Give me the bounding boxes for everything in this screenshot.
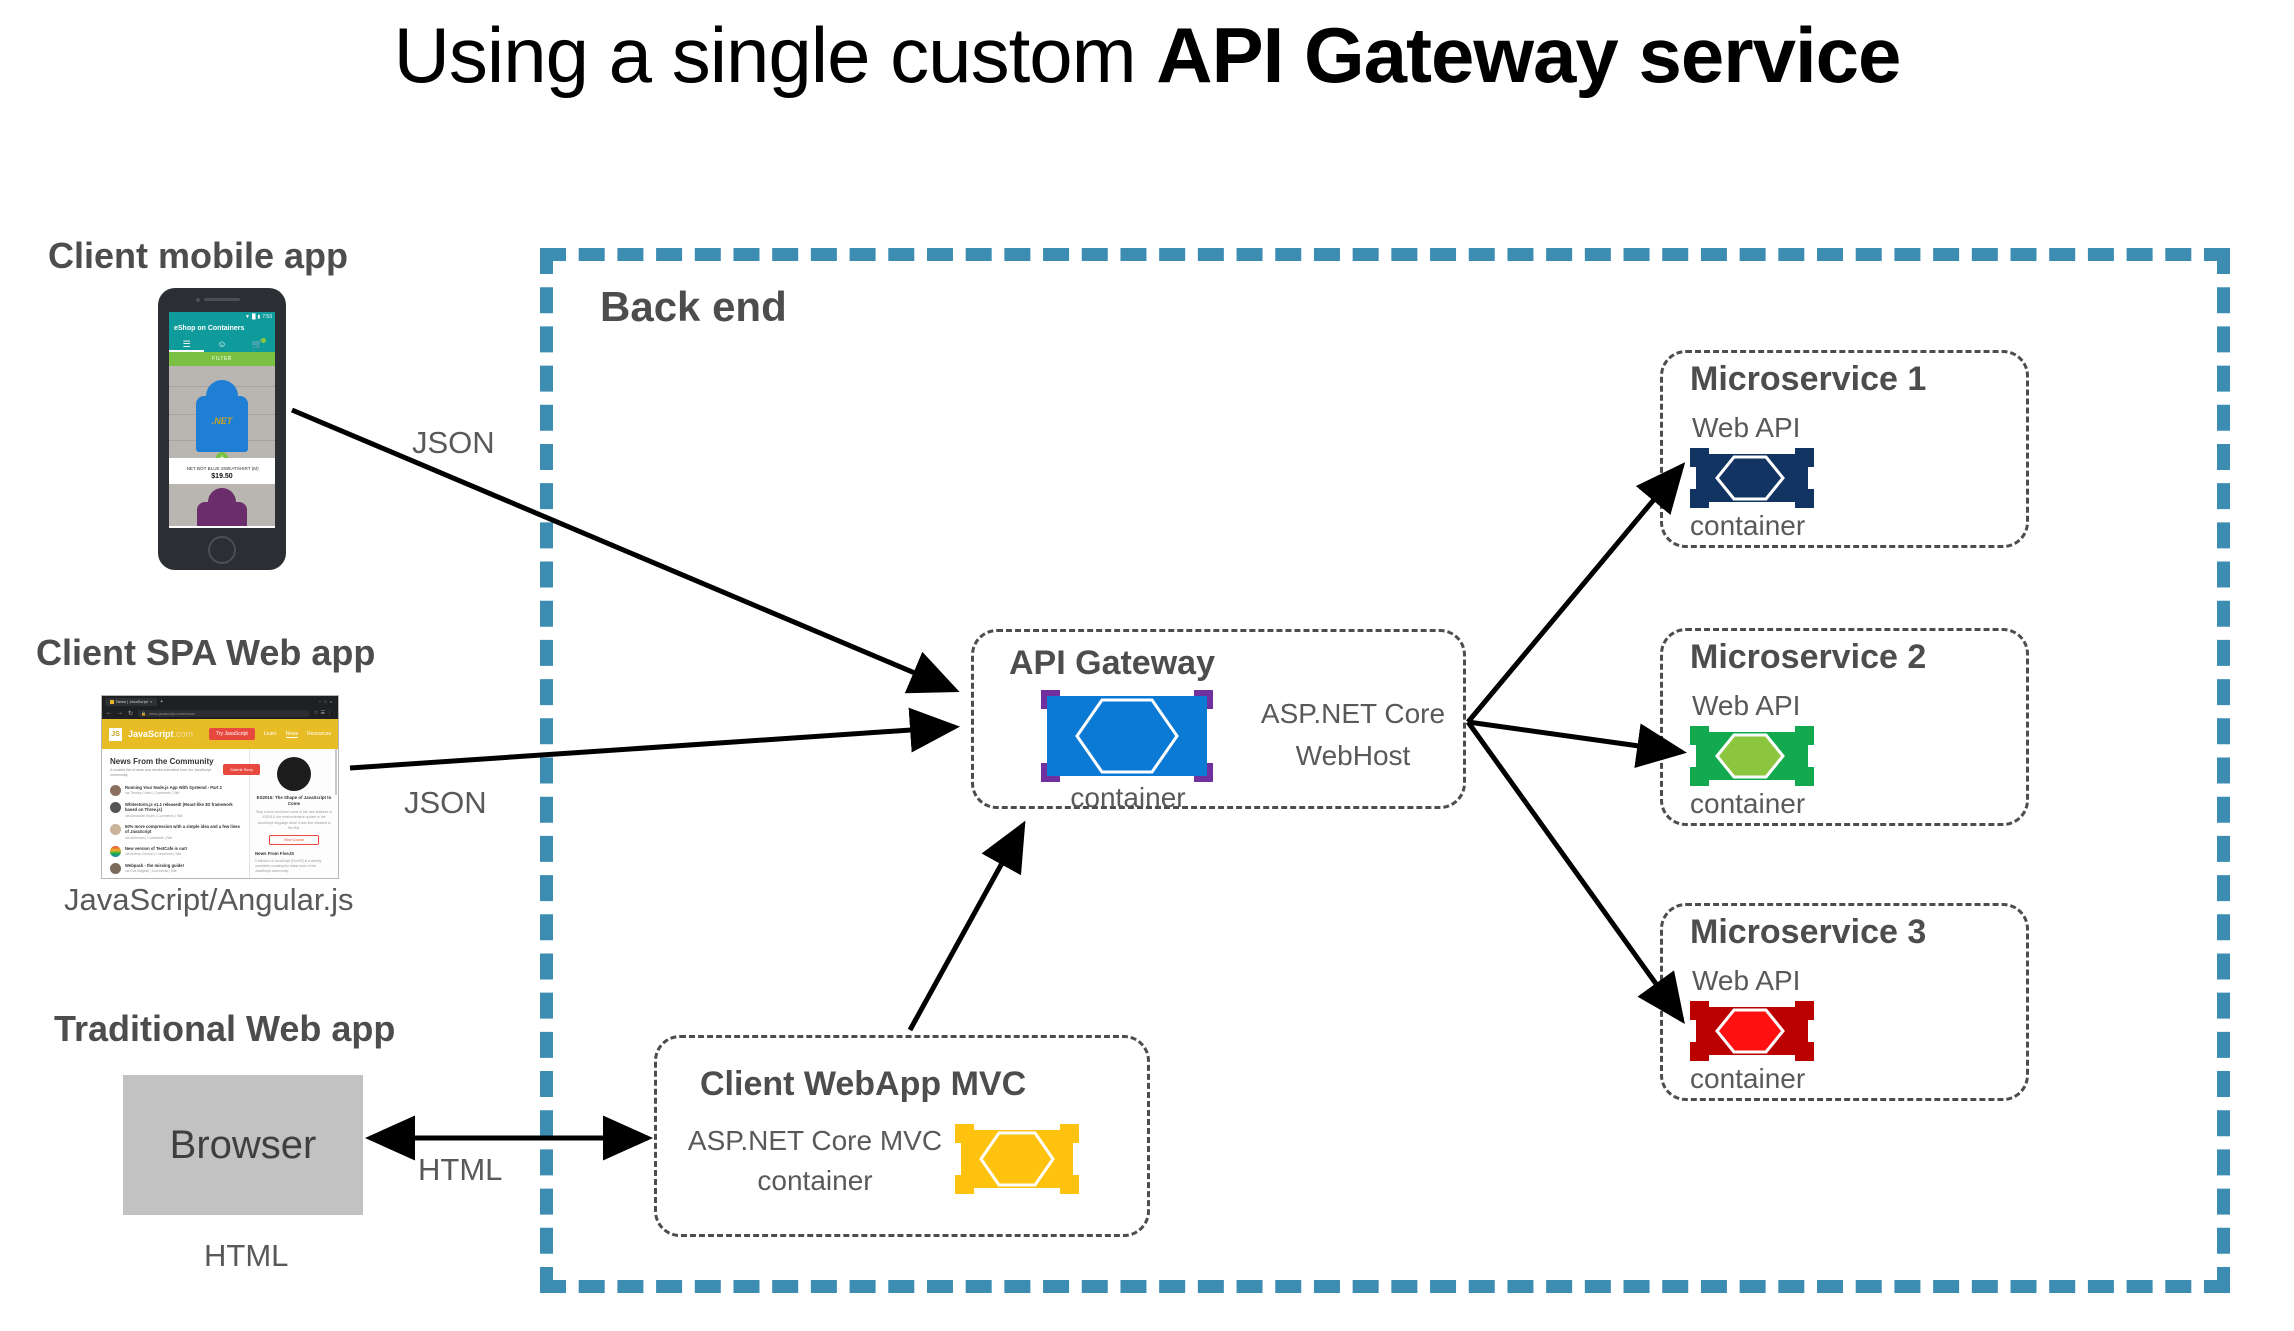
- sidebar-text: Stay in tune and learn some of the new f…: [255, 810, 333, 830]
- article-meta: via Gus Magrab | Comments | Site: [125, 869, 184, 873]
- microservice-1-container-label: container: [1690, 510, 1805, 542]
- hoodie-text: .NET: [192, 416, 252, 426]
- phone-screen: ▼ █ ▮ 7:53 eShop on Containers ☰ ☺ 🛒 FIL…: [169, 312, 275, 528]
- nav-link-resources[interactable]: Resources: [307, 731, 331, 737]
- course-badge-icon: [277, 757, 311, 791]
- list-item[interactable]: Whitestorm.js v1.1 released! (React-like…: [110, 802, 241, 818]
- person-icon[interactable]: ☺: [204, 336, 239, 352]
- cart-badge: [261, 338, 266, 343]
- avatar: [110, 802, 121, 813]
- client-webapp-mvc-title: Client WebApp MVC: [700, 1065, 1026, 1104]
- edge-label-browser-html: HTML: [418, 1152, 502, 1188]
- view-course-button[interactable]: View Course: [269, 835, 319, 845]
- nav-link-learn[interactable]: Learn: [264, 731, 277, 737]
- address-bar-value: www.javascript.com/news: [149, 711, 195, 716]
- microservice-2-subtitle: Web API: [1692, 690, 1800, 722]
- phone-speaker: [204, 298, 240, 301]
- sidebar-title: ES2015: The Shape of JavaScript to Come: [255, 795, 333, 807]
- client-traditional-heading: Traditional Web app: [54, 1008, 395, 1050]
- microservice-3-container-label: container: [1690, 1063, 1805, 1095]
- status-time: 7:53: [262, 314, 272, 320]
- list-item[interactable]: Webpack - the missing guide! via Gus Mag…: [110, 863, 241, 874]
- browser-tab[interactable]: News | JavaScript ×: [105, 698, 157, 706]
- hoodie-graphic: .NET: [192, 380, 252, 454]
- container-icon: [1690, 1001, 1814, 1061]
- microservice-3-title: Microservice 3: [1690, 913, 1926, 952]
- sidebar-column: ES2015: The Shape of JavaScript to Come …: [249, 749, 338, 879]
- back-icon[interactable]: ←: [106, 710, 112, 716]
- client-mobile-heading: Client mobile app: [48, 235, 348, 277]
- container-icon: [955, 1124, 1079, 1194]
- avatar: [110, 863, 121, 874]
- client-spa-heading: Client SPA Web app: [36, 632, 375, 674]
- cart-icon[interactable]: 🛒: [240, 336, 275, 352]
- spa-browser-frame: News | JavaScript × + −□× ← → ↻ 🔒 www.ja…: [101, 695, 339, 879]
- phone-status-bar: ▼ █ ▮ 7:53: [169, 312, 275, 322]
- product-photo: .NET +: [169, 366, 275, 458]
- edge-label-spa-json: JSON: [404, 785, 487, 821]
- product-price: $19.50: [169, 473, 275, 484]
- article-title: 50% more compression with a simple idea …: [125, 824, 241, 835]
- page-title: Using a single custom API Gateway servic…: [0, 10, 2294, 101]
- product-photo-2: [169, 484, 275, 526]
- battery-icon: ▮: [258, 314, 261, 320]
- browser-box-label: Browser: [170, 1123, 317, 1168]
- article-title: New version of TestCafe is out!: [125, 846, 187, 851]
- api-gateway-tech-line2: WebHost: [1243, 740, 1463, 772]
- filter-button[interactable]: FILTER: [169, 352, 275, 366]
- article-title: Running Your Node.js App With Systemd - …: [125, 785, 222, 790]
- container-icon: [1690, 726, 1814, 786]
- browser-protocol-label: HTML: [204, 1238, 288, 1274]
- api-gateway-tech-line1: ASP.NET Core: [1243, 698, 1463, 730]
- avatar: [110, 824, 121, 835]
- client-webapp-mvc-tech: ASP.NET Core MVC: [680, 1125, 950, 1157]
- lock-icon: 🔒: [141, 711, 146, 716]
- hoodie-graphic-2: [194, 488, 250, 526]
- list-item[interactable]: New version of TestCafe is out! via Andr…: [110, 846, 241, 857]
- list-item[interactable]: Running Your Node.js App With Systemd - …: [110, 785, 241, 796]
- new-tab-button[interactable]: +: [160, 699, 163, 705]
- microservice-1-subtitle: Web API: [1692, 412, 1800, 444]
- api-gateway-container-label: container: [1043, 782, 1213, 814]
- microservice-2-container-label: container: [1690, 788, 1805, 820]
- try-javascript-button[interactable]: Try JavaScript: [209, 728, 255, 740]
- article-meta: via Alexander Buzin | Comments | Site: [125, 814, 241, 818]
- backend-label: Back end: [600, 283, 787, 331]
- browser-toolbar-icons[interactable]: ☆☰⋮: [314, 710, 334, 716]
- nav-link-news[interactable]: News: [286, 731, 299, 738]
- browser-tab-bar: News | JavaScript × + −□×: [102, 696, 338, 707]
- site-brand-tld: .com: [174, 729, 194, 739]
- close-icon[interactable]: ×: [150, 699, 152, 704]
- address-bar[interactable]: 🔒 www.javascript.com/news: [138, 710, 309, 717]
- sidebar-title-2: News From FiveJS: [255, 851, 333, 856]
- container-icon: [1041, 690, 1213, 782]
- hamburger-icon[interactable]: ☰: [169, 336, 204, 352]
- phone-body: ▼ █ ▮ 7:53 eShop on Containers ☰ ☺ 🛒 FIL…: [158, 288, 286, 570]
- page-title-bold: API Gateway service: [1156, 11, 1900, 99]
- favicon-icon: [110, 700, 114, 704]
- avatar: [110, 846, 121, 857]
- client-spa-tech-label: JavaScript/Angular.js: [64, 882, 353, 918]
- client-spa-browser-mock: News | JavaScript × + −□× ← → ↻ 🔒 www.ja…: [101, 695, 339, 879]
- microservice-3-subtitle: Web API: [1692, 965, 1800, 997]
- avatar: [110, 785, 121, 796]
- article-meta: via Andrey Churkin | Comments | Site: [125, 852, 187, 856]
- product-name: .NET BOT BLUE SWEATSHIRT (M): [169, 458, 275, 473]
- client-webapp-mvc-container-label: container: [680, 1165, 950, 1197]
- app-title: eShop on Containers: [169, 322, 275, 336]
- site-brand: JavaScript.com: [128, 729, 193, 739]
- microservice-1-title: Microservice 1: [1690, 360, 1926, 399]
- news-subtitle: A curated list of news and stories submi…: [110, 768, 220, 779]
- site-nav: Try JavaScript Learn News Resources: [209, 728, 331, 740]
- add-to-cart-button[interactable]: +: [216, 452, 228, 458]
- browser-nav-bar: ← → ↻ 🔒 www.javascript.com/news ☆☰⋮: [102, 707, 338, 719]
- news-headline: News From the Community: [110, 757, 241, 766]
- microservice-2-title: Microservice 2: [1690, 638, 1926, 677]
- js-logo-icon: JS: [109, 728, 122, 741]
- browser-tab-title: News | JavaScript: [116, 699, 148, 704]
- app-tab-bar: ☰ ☺ 🛒: [169, 336, 275, 352]
- window-controls[interactable]: −□×: [319, 699, 335, 704]
- list-item[interactable]: 50% more compression with a simple idea …: [110, 824, 241, 840]
- site-header: JS JavaScript.com Try JavaScript Learn N…: [102, 719, 338, 749]
- scrollbar[interactable]: [335, 749, 337, 795]
- phone-camera-icon: [196, 298, 200, 302]
- signal-icon: █: [252, 314, 256, 320]
- article-meta: via Tierney Coren | Comments | Site: [125, 791, 222, 795]
- phone-home-button[interactable]: [208, 536, 236, 564]
- sidebar-text-2: 5 Minutes of JavaScript (FiveJS) is a we…: [255, 859, 333, 874]
- site-brand-name: JavaScript: [128, 729, 174, 739]
- client-mobile-phone-mock: ▼ █ ▮ 7:53 eShop on Containers ☰ ☺ 🛒 FIL…: [158, 288, 286, 570]
- submit-story-button[interactable]: Submit Story: [223, 764, 260, 775]
- page-title-plain: Using a single custom: [394, 11, 1157, 99]
- container-icon: [1690, 448, 1814, 508]
- wifi-icon: ▼: [245, 314, 250, 320]
- site-body: News From the Community A curated list o…: [102, 749, 338, 879]
- forward-icon[interactable]: →: [117, 710, 123, 716]
- api-gateway-title: API Gateway: [1009, 644, 1215, 683]
- article-title: Webpack - the missing guide!: [125, 863, 184, 868]
- article-meta: via arthuman | Comments | Site: [125, 836, 241, 840]
- reload-icon[interactable]: ↻: [128, 710, 133, 717]
- edge-label-mobile-json: JSON: [412, 425, 495, 461]
- browser-box: Browser: [123, 1075, 363, 1215]
- article-title: Whitestorm.js v1.1 released! (React-like…: [125, 802, 241, 813]
